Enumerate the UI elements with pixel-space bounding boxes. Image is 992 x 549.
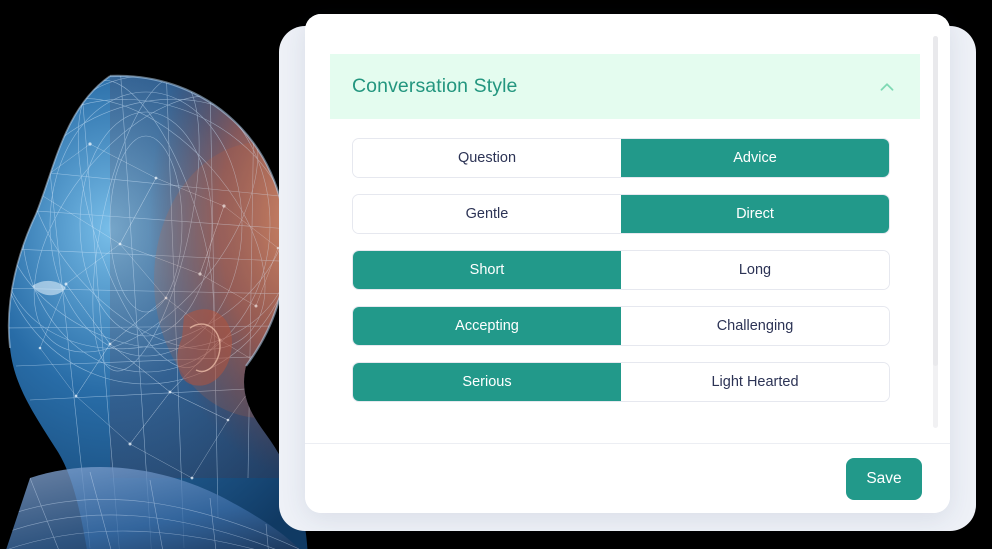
content-top-strip (330, 14, 920, 54)
toggle-option-left[interactable]: Serious (353, 363, 621, 401)
toggle-option-left[interactable]: Question (353, 139, 621, 177)
chevron-up-icon[interactable] (876, 76, 898, 98)
toggle-option-right[interactable]: Direct (621, 195, 889, 233)
conversation-style-header[interactable]: Conversation Style (330, 54, 920, 119)
screenshot-root: Conversation Style Question Advice Gentl… (0, 0, 992, 549)
toggle-option-right[interactable]: Light Hearted (621, 363, 889, 401)
toggle-row: Question Advice (352, 138, 890, 178)
toggle-option-left[interactable]: Accepting (353, 307, 621, 345)
conversation-style-toggle-list: Question Advice Gentle Direct Short Long… (352, 138, 890, 418)
scrollable-content-region[interactable]: Conversation Style Question Advice Gentl… (305, 14, 950, 443)
toggle-row: Serious Light Hearted (352, 362, 890, 402)
scrollbar-thumb[interactable] (933, 36, 938, 366)
settings-card: Conversation Style Question Advice Gentl… (305, 14, 950, 513)
content-bottom-fade (305, 433, 950, 443)
section-title: Conversation Style (352, 75, 876, 98)
card-footer: Save (305, 443, 950, 513)
toggle-option-right[interactable]: Challenging (621, 307, 889, 345)
toggle-row: Gentle Direct (352, 194, 890, 234)
toggle-option-right[interactable]: Advice (621, 139, 889, 177)
toggle-option-right[interactable]: Long (621, 251, 889, 289)
save-button[interactable]: Save (846, 458, 922, 500)
toggle-row: Accepting Challenging (352, 306, 890, 346)
toggle-option-left[interactable]: Gentle (353, 195, 621, 233)
toggle-row: Short Long (352, 250, 890, 290)
scrollbar-track[interactable] (933, 36, 938, 428)
toggle-option-left[interactable]: Short (353, 251, 621, 289)
